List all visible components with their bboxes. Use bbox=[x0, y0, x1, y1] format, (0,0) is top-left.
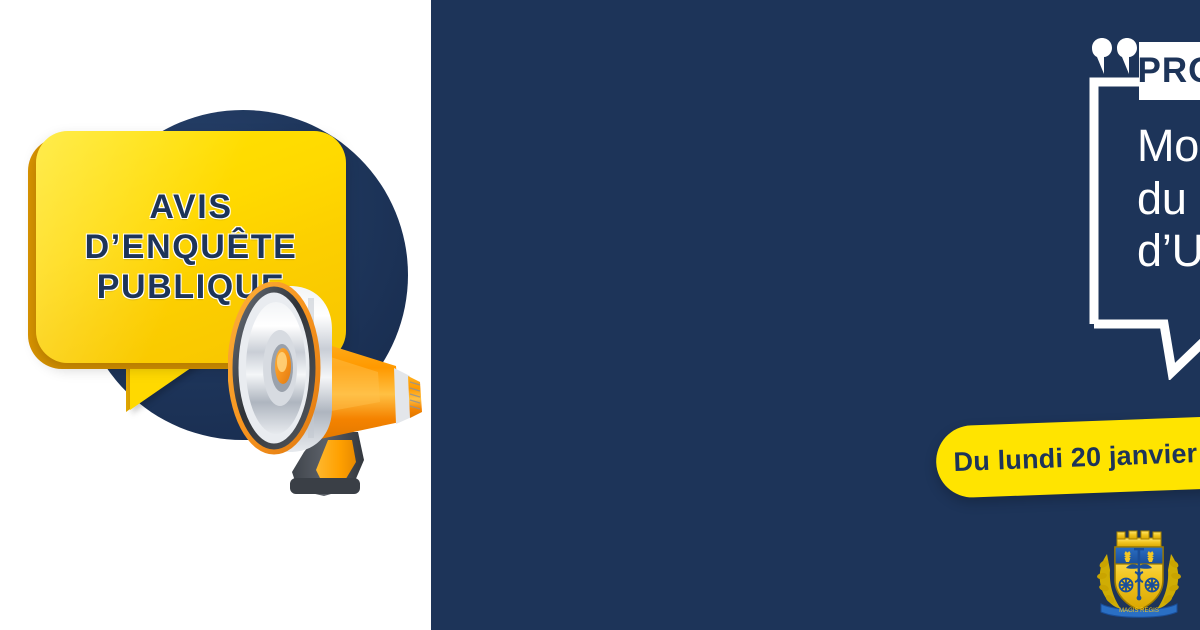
angerville-coat-of-arms: MAGIS REGIS bbox=[1091, 528, 1187, 620]
crest-motto: MAGIS REGIS bbox=[1119, 608, 1159, 614]
megaphone-icon bbox=[228, 282, 431, 507]
footer-branding: MAGIS REGIS angerv ! lle bbox=[1091, 528, 1200, 620]
page-title: Modification du Plan Local d’Urbanisme bbox=[1137, 120, 1200, 278]
left-illustration-panel: AVIS D’ENQUÊTE PUBLIQUE bbox=[0, 0, 431, 630]
avis-line-2: D’ENQUÊTE bbox=[85, 228, 298, 266]
projet-tag: PROJET bbox=[1139, 42, 1200, 100]
date-range-text: Du lundi 20 janvier au mercredi 19 févri… bbox=[953, 424, 1200, 477]
right-content-panel: PROJET Modification du Plan Local d’Urba… bbox=[431, 0, 1200, 630]
projet-label: PROJET bbox=[1137, 51, 1200, 91]
poster-canvas: AVIS D’ENQUÊTE PUBLIQUE bbox=[0, 0, 1200, 630]
date-range-banner: Du lundi 20 janvier au mercredi 19 févri… bbox=[935, 403, 1200, 498]
avis-line-1: AVIS bbox=[149, 188, 232, 226]
